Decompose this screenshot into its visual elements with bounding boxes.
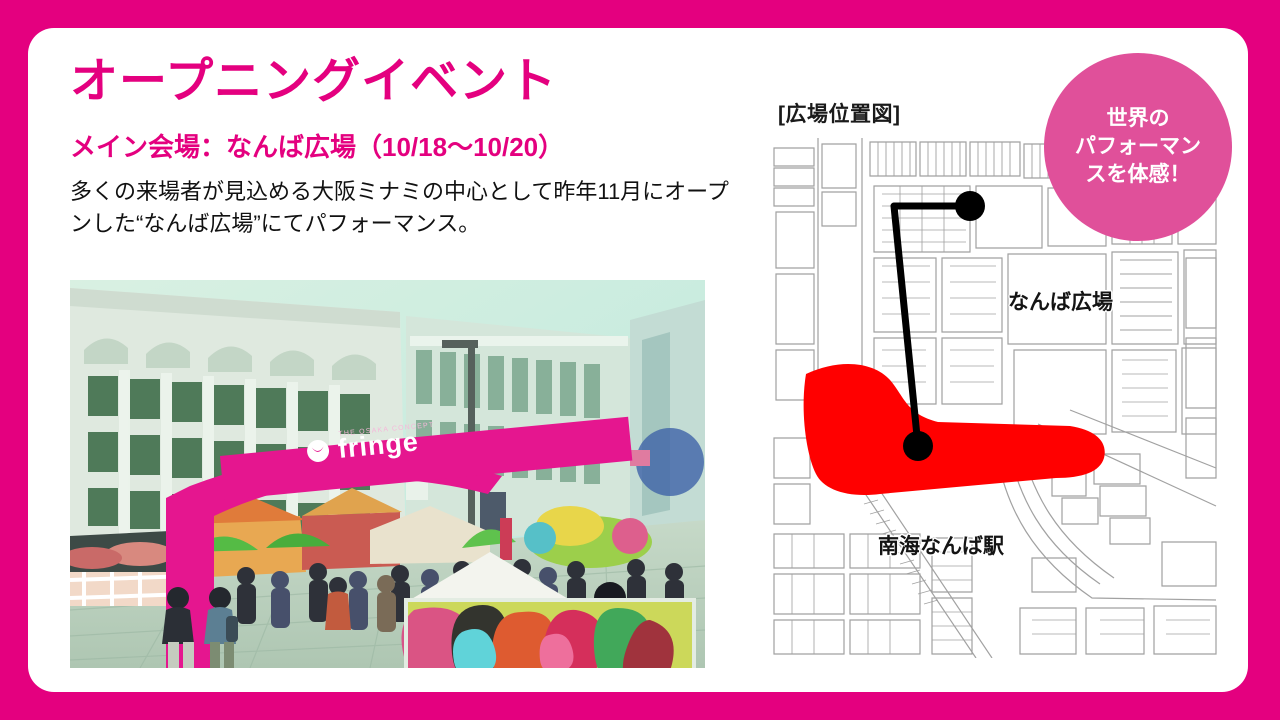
page-title: オープニングイベント [70,56,770,109]
highlight-badge: 世界の パフォーマン スを体感！ [1044,53,1232,241]
badge-line-3: スを体感！ [1086,161,1191,189]
badge-line-1: 世界の [1107,105,1170,133]
plaza-marker-dot [903,431,933,461]
content-card: オープニングイベント メイン会場：なんば広場（10/18〜10/20） 多くの来… [28,28,1248,692]
map-label-plaza: なんば広場 [1008,286,1113,316]
event-description: 多くの来場者が見込める大阪ミナミの中心として昨年11月にオープンした“なんば広場… [70,176,746,240]
map-label-station: 南海なんば駅 [878,530,1004,560]
event-photo: fringe THE OSAKA CONCEPT [70,280,705,668]
event-photo-illustration: fringe THE OSAKA CONCEPT [70,280,705,668]
left-column: オープニングイベント メイン会場：なんば広場（10/18〜10/20） 多くの来… [70,56,770,240]
badge-line-2: パフォーマン [1075,133,1201,161]
plaza-label-dot [955,191,985,221]
venue-subtitle: メイン会場：なんば広場（10/18〜10/20） [70,127,770,164]
